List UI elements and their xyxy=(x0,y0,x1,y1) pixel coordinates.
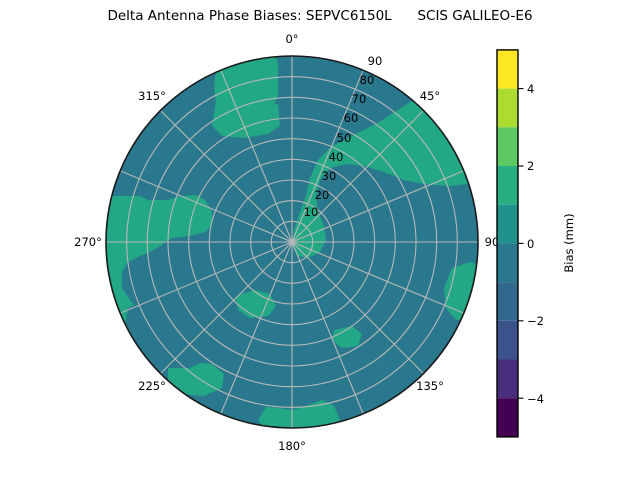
colorbar-tick-minus2: −2 xyxy=(527,314,544,328)
colorbar-swatch-1 xyxy=(497,360,518,399)
colorbar-tick-2: 2 xyxy=(527,159,534,173)
colorbar-swatch-3 xyxy=(497,282,518,321)
colorbar-ticks xyxy=(518,89,524,399)
colorbar-swatch-7 xyxy=(497,127,518,166)
colorbar-swatch-8 xyxy=(497,89,518,128)
colorbar-tick-labels: 4 2 0 −2 −4 xyxy=(527,82,544,406)
figure-canvas: Delta Antenna Phase Biases: SEPVC6150L S… xyxy=(0,0,640,480)
colorbar-swatch-0 xyxy=(497,398,518,437)
colorbar-swatch-5 xyxy=(497,205,518,244)
colorbar-tick-0: 0 xyxy=(527,237,534,251)
colorbar: 4 2 0 −2 −4 Bias (mm) xyxy=(0,0,640,480)
colorbar-tick-4: 4 xyxy=(527,82,534,96)
colorbar-swatch-2 xyxy=(497,321,518,360)
colorbar-swatch-4 xyxy=(497,243,518,282)
colorbar-axis-label: Bias (mm) xyxy=(562,213,576,272)
colorbar-swatch-6 xyxy=(497,166,518,205)
colorbar-tick-minus4: −4 xyxy=(527,392,544,406)
colorbar-swatches xyxy=(497,50,518,437)
colorbar-swatch-9 xyxy=(497,50,518,89)
